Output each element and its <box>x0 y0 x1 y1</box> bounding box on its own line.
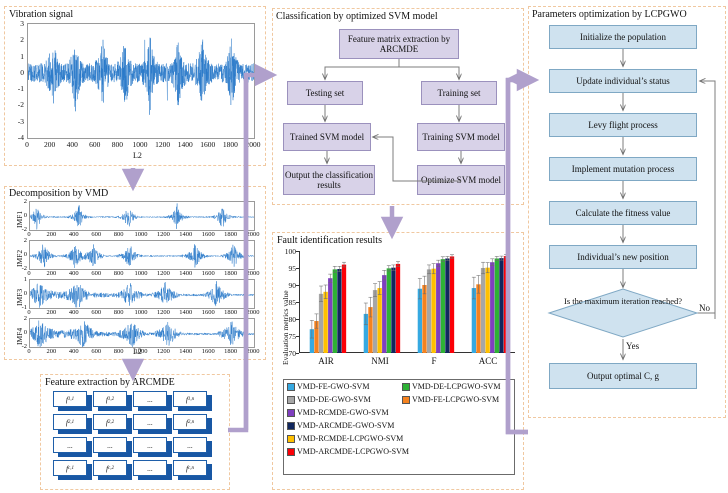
vmd-x-tick: 1400 <box>178 348 194 355</box>
node-training-svm-model[interactable]: Training SVM model <box>417 123 505 151</box>
vmd-x-tick: 2000 <box>245 231 261 238</box>
vmd-x-tick: 1000 <box>133 270 149 277</box>
vmd-x-tick: 1400 <box>178 309 194 316</box>
vmd-x-tick: 1800 <box>223 348 239 355</box>
panel-vibration-signal: Vibration signal 3210-1-2-3-4 0200400600… <box>4 6 266 166</box>
bar <box>337 269 341 353</box>
vmd-subplot-imf2 <box>29 240 255 270</box>
vmd-x-tick: 1400 <box>178 231 194 238</box>
vmd-x-tick: 800 <box>111 309 127 316</box>
vmd-y-tick: 0 <box>13 329 27 336</box>
legend-item[interactable]: VMD-FE-LCPGWO-SVM <box>402 395 499 404</box>
x-tick: 1800 <box>222 140 238 149</box>
legend-label: VMD-FE-GWO-SVM <box>297 382 369 391</box>
chart-y-tick: 80 <box>275 315 296 324</box>
vibration-xlabel: L2 <box>133 151 142 160</box>
feature-cell[interactable]: ... <box>133 391 167 407</box>
vmd-x-tick: 600 <box>88 348 104 355</box>
vmd-x-tick: 1000 <box>133 309 149 316</box>
legend-label: VMD-FE-LCPGWO-SVM <box>412 395 499 404</box>
bar <box>431 269 435 353</box>
feature-cell[interactable]: ... <box>93 437 127 453</box>
vmd-x-tick: 600 <box>88 309 104 316</box>
vmd-x-tick: 1800 <box>223 309 239 316</box>
legend-item[interactable]: VMD-DE-GWO-SVM <box>287 395 371 404</box>
chart-y-tick: 90 <box>275 281 296 290</box>
vmd-x-tick: 1200 <box>155 309 171 316</box>
chart-y-tick: 70 <box>275 349 296 358</box>
feature-cell[interactable]: f2,1 <box>53 414 87 430</box>
bar <box>391 268 395 353</box>
vmd-y-tick: 0 <box>13 212 27 219</box>
bar <box>382 275 386 353</box>
bar <box>499 258 503 353</box>
vmd-x-tick: 800 <box>111 270 127 277</box>
vmd-x-tick: 1600 <box>200 348 216 355</box>
vmd-x-tick: 400 <box>66 309 82 316</box>
feature-cell[interactable]: fc,n <box>173 460 207 476</box>
vmd-x-tick: 600 <box>88 231 104 238</box>
x-tick: 1600 <box>200 140 216 149</box>
legend-label: VMD-RCMDE-LCPGWO-SVM <box>297 434 403 443</box>
legend-item[interactable]: VMD-FE-GWO-SVM <box>287 382 369 391</box>
legend-swatch <box>287 396 295 404</box>
vibration-signal-plot <box>28 24 254 138</box>
vmd-x-tick: 400 <box>66 270 82 277</box>
node-feature-matrix-extraction[interactable]: Feature matrix extraction by ARCMDE <box>339 29 459 59</box>
vmd-x-tick: 1400 <box>178 270 194 277</box>
panel-vmd-decomposition: Decomposition by VMD IMF120-202004006008… <box>4 186 266 360</box>
vmd-x-tick: 200 <box>43 231 59 238</box>
bar <box>450 256 454 353</box>
x-tick: 400 <box>64 140 80 149</box>
legend-item[interactable]: VMD-RCMDE-LCPGWO-SVM <box>287 434 403 443</box>
vmd-y-tick: 0 <box>13 251 27 258</box>
vmd-y-tick: 1 <box>13 276 27 283</box>
x-tick: 1400 <box>177 140 193 149</box>
y-tick: 3 <box>9 19 24 28</box>
vmd-x-tick: 400 <box>66 348 82 355</box>
bar <box>387 268 391 353</box>
legend-item[interactable]: VMD-ARCMDE-LCPGWO-SVM <box>287 447 409 456</box>
legend-item[interactable]: VMD-DE-LCPGWO-SVM <box>402 382 500 391</box>
node-optimize-svm-model[interactable]: Optimize SVM model <box>417 165 505 195</box>
bar <box>377 288 381 353</box>
vmd-x-tick: 1600 <box>200 231 216 238</box>
legend-label: VMD-DE-GWO-SVM <box>297 395 371 404</box>
panel-parameter-optimization: Parameters optimization by LCPGWO Initia… <box>528 6 726 418</box>
decision-yes-label: Yes <box>626 341 639 351</box>
x-tick: 0 <box>19 140 35 149</box>
node-training-set[interactable]: Training set <box>421 81 497 105</box>
chart-x-tick: ACC <box>468 356 508 366</box>
legend-item[interactable]: VMD-RCMDE-GWO-SVM <box>287 408 389 417</box>
vmd-x-tick: 1000 <box>133 231 149 238</box>
vmd-subplot-imf1 <box>29 201 255 231</box>
vmd-x-tick: 0 <box>21 348 37 355</box>
bar <box>328 278 332 353</box>
node-trained-svm-model[interactable]: Trained SVM model <box>283 123 371 151</box>
feature-cell[interactable]: fc,1 <box>53 460 87 476</box>
vmd-x-tick: 200 <box>43 309 59 316</box>
vmd-x-tick: 2000 <box>245 270 261 277</box>
feature-cell[interactable]: f2,n <box>173 414 207 430</box>
panel-classification: Classification by optimized SVM model Fe… <box>272 8 524 205</box>
x-tick: 1000 <box>132 140 148 149</box>
decision-no-label: No <box>699 303 710 313</box>
vmd-subplot-imf3 <box>29 279 255 309</box>
bar-chart-svg <box>300 251 516 353</box>
feature-cell[interactable]: f2,2 <box>93 414 127 430</box>
chart-y-tick: 100 <box>275 247 296 256</box>
optimization-connectors <box>529 7 725 417</box>
bar <box>319 294 323 353</box>
vmd-x-tick: 1200 <box>155 270 171 277</box>
vmd-x-tick: 1200 <box>155 348 171 355</box>
bar <box>476 284 480 353</box>
legend-label: VMD-RCMDE-GWO-SVM <box>297 408 389 417</box>
bar <box>323 292 327 353</box>
vmd-y-tick: 2 <box>13 198 27 205</box>
legend-swatch <box>287 422 295 430</box>
vmd-x-tick: 200 <box>43 270 59 277</box>
panel-title-classification: Classification by optimized SVM model <box>276 11 438 22</box>
panel-fault-identification: Fault identification results Evaluation … <box>272 232 524 490</box>
x-tick: 800 <box>109 140 125 149</box>
vmd-x-tick: 800 <box>111 231 127 238</box>
feature-cell[interactable]: f1,n <box>173 391 207 407</box>
bar <box>490 262 494 353</box>
chart-y-tick: 85 <box>275 298 296 307</box>
chart-x-tick: NMI <box>360 356 400 366</box>
chart-y-tick: 95 <box>275 264 296 273</box>
bar <box>436 263 440 353</box>
node-output-classification-results[interactable]: Output the classification results <box>283 165 375 195</box>
vmd-x-tick: 2000 <box>245 309 261 316</box>
y-tick: -1 <box>9 84 24 93</box>
chart-x-tick: AIR <box>306 356 346 366</box>
bar <box>427 269 431 353</box>
vmd-x-tick: 1200 <box>155 231 171 238</box>
chart-x-tick: F <box>414 356 454 366</box>
node-output-optimal-params[interactable]: Output optimal C, g <box>549 363 697 389</box>
y-tick: 1 <box>9 52 24 61</box>
bar <box>333 269 337 353</box>
y-tick: 0 <box>9 68 24 77</box>
vmd-x-tick: 600 <box>88 270 104 277</box>
panel-title-feature-extraction: Feature extraction by ARCMDE <box>45 377 175 388</box>
vmd-y-tick: 2 <box>13 315 27 322</box>
vmd-xlabel: L2 <box>133 347 142 356</box>
legend-swatch <box>287 409 295 417</box>
y-tick: -3 <box>9 117 24 126</box>
legend-swatch <box>287 383 295 391</box>
chart-plot-area <box>299 251 515 353</box>
legend-swatch <box>402 383 410 391</box>
vmd-x-tick: 200 <box>43 348 59 355</box>
x-tick: 1200 <box>155 140 171 149</box>
bar <box>342 265 346 353</box>
legend-swatch <box>402 396 410 404</box>
x-tick: 200 <box>42 140 58 149</box>
vmd-y-tick: 0 <box>13 290 27 297</box>
feature-cell[interactable]: f1,2 <box>93 391 127 407</box>
vmd-y-tick: 2 <box>13 237 27 244</box>
bar <box>373 290 377 353</box>
legend-swatch <box>287 448 295 456</box>
x-tick: 600 <box>87 140 103 149</box>
vmd-x-tick: 1800 <box>223 231 239 238</box>
chart-y-tick: 75 <box>275 332 296 341</box>
vmd-x-tick: 1600 <box>200 270 216 277</box>
vmd-subplot-imf4 <box>29 318 255 348</box>
vmd-x-tick: 1800 <box>223 270 239 277</box>
vmd-x-tick: 800 <box>111 348 127 355</box>
feature-cell[interactable]: ... <box>173 437 207 453</box>
feature-cell[interactable]: ... <box>133 460 167 476</box>
bar <box>445 258 449 353</box>
y-tick: -2 <box>9 100 24 109</box>
panel-title-fault-identification: Fault identification results <box>277 235 382 246</box>
chart-legend: VMD-FE-GWO-SVMVMD-DE-LCPGWO-SVMVMD-DE-GW… <box>283 379 515 475</box>
bar <box>481 268 485 353</box>
feature-cell[interactable]: ... <box>133 414 167 430</box>
output-optimal-text: Output optimal C, g <box>587 371 659 381</box>
legend-label: VMD-ARCMDE-LCPGWO-SVM <box>297 447 409 456</box>
x-tick: 2000 <box>245 140 261 149</box>
bar <box>495 258 499 353</box>
y-tick: 2 <box>9 35 24 44</box>
vmd-x-tick: 400 <box>66 231 82 238</box>
panel-feature-extraction: Feature extraction by ARCMDE f1,1f1,2...… <box>40 374 230 490</box>
bar <box>396 264 400 353</box>
feature-cell[interactable]: f1,1 <box>53 391 87 407</box>
node-testing-set[interactable]: Testing set <box>287 81 363 105</box>
vmd-x-tick: 1600 <box>200 309 216 316</box>
bar <box>485 268 489 353</box>
legend-label: VMD-ARCMDE-GWO-SVM <box>297 421 394 430</box>
vibration-axes <box>27 23 255 139</box>
bar <box>504 256 508 353</box>
legend-swatch <box>287 435 295 443</box>
legend-label: VMD-DE-LCPGWO-SVM <box>412 382 500 391</box>
bar <box>422 285 426 353</box>
vmd-x-tick: 2000 <box>245 348 261 355</box>
bar <box>441 259 445 353</box>
feature-cell[interactable]: fc,2 <box>93 460 127 476</box>
feature-cell[interactable]: ... <box>133 437 167 453</box>
decision-diamond[interactable] <box>549 289 697 337</box>
feature-cell[interactable]: ... <box>53 437 87 453</box>
legend-item[interactable]: VMD-ARCMDE-GWO-SVM <box>287 421 394 430</box>
